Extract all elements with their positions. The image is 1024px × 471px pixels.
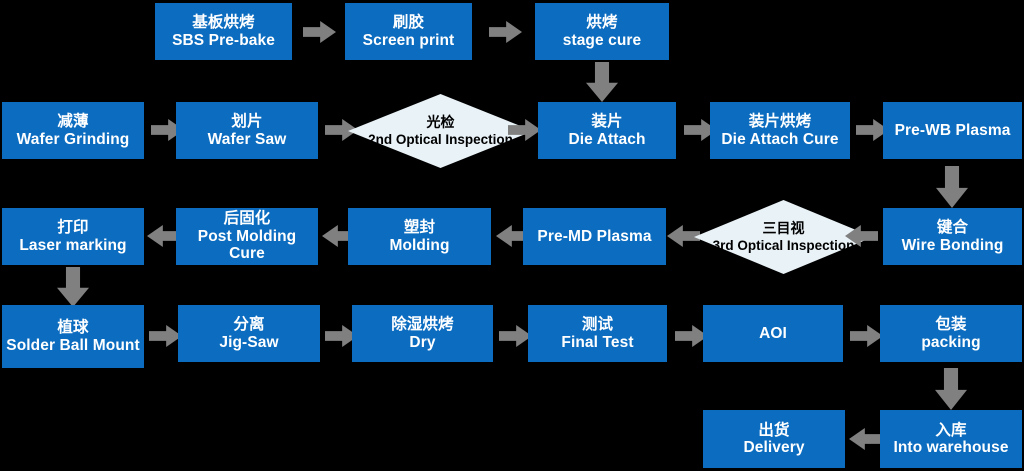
- node-label-en: Jig-Saw: [219, 334, 278, 351]
- node-label-en: Wire Bonding: [902, 237, 1004, 254]
- node-wafer-grinding[interactable]: 减薄 Wafer Grinding: [2, 102, 144, 159]
- node-label-en: stage cure: [563, 32, 642, 49]
- node-stage-cure[interactable]: 烘烤 stage cure: [535, 3, 669, 60]
- diamond-label: 三目视 3rd Optical Inspection: [713, 220, 855, 253]
- node-label-cn: 装片烘烤: [749, 113, 811, 130]
- node-label-cn: 打印: [57, 219, 88, 236]
- node-solder-ball-mount[interactable]: 植球 Solder Ball Mount: [2, 305, 144, 368]
- node-wafer-saw[interactable]: 划片 Wafer Saw: [176, 102, 318, 159]
- arrow-stage-cure-to-die-attach: [586, 62, 618, 102]
- node-3rd-optical-inspection[interactable]: 三目视 3rd Optical Inspection: [694, 200, 873, 274]
- arrow-laser-marking-to-solder-ball-mount: [57, 267, 89, 307]
- node-label-en: SBS Pre-bake: [172, 32, 275, 49]
- node-label-cn: 入库: [935, 422, 966, 439]
- node-label-cn: 键合: [937, 219, 968, 236]
- node-label-en: Delivery: [743, 439, 804, 456]
- node-label-en: Solder Ball Mount: [6, 337, 139, 354]
- node-label-cn: 后固化: [224, 210, 271, 227]
- arrow-packing-to-into-warehouse: [935, 368, 967, 410]
- node-die-attach[interactable]: 装片 Die Attach: [538, 102, 676, 159]
- node-label-cn: 分离: [233, 316, 264, 333]
- node-pre-md-plasma[interactable]: Pre-MD Plasma: [523, 208, 666, 265]
- node-label-cn: 烘烤: [586, 14, 617, 31]
- node-label-en: Laser marking: [19, 237, 126, 254]
- node-jig-saw[interactable]: 分离 Jig-Saw: [178, 305, 320, 362]
- node-label-en: Molding: [389, 237, 449, 254]
- node-label-en: Screen print: [363, 32, 455, 49]
- node-label-cn: 测试: [582, 316, 613, 333]
- arrow-aoi-to-packing: [850, 325, 883, 347]
- diamond-label: 光检 2nd Optical Inspection: [368, 114, 513, 147]
- node-dry[interactable]: 除湿烘烤 Dry: [352, 305, 493, 362]
- node-label-cn: 减薄: [57, 113, 88, 130]
- node-label-en: Die Attach: [568, 131, 645, 148]
- node-label-en: 2nd Optical Inspection: [368, 132, 513, 147]
- node-laser-marking[interactable]: 打印 Laser marking: [2, 208, 144, 265]
- node-die-attach-cure[interactable]: 装片烘烤 Die Attach Cure: [710, 102, 850, 159]
- node-label-cn: 包装: [935, 316, 966, 333]
- node-label-en: Wafer Grinding: [17, 131, 130, 148]
- node-label-en: packing: [921, 334, 980, 351]
- node-label-en: Post Molding Cure: [179, 228, 315, 263]
- node-screen-print[interactable]: 刷胶 Screen print: [345, 3, 472, 60]
- node-label-cn: 光检: [427, 114, 455, 130]
- node-label-cn: 刷胶: [393, 14, 424, 31]
- arrow-pre-wb-plasma-to-wire-bonding: [936, 166, 968, 208]
- node-wire-bonding[interactable]: 键合 Wire Bonding: [883, 208, 1022, 265]
- node-label-en: Die Attach Cure: [721, 131, 838, 148]
- node-pre-wb-plasma[interactable]: Pre-WB Plasma: [883, 102, 1022, 159]
- node-label-en: AOI: [759, 325, 787, 342]
- node-aoi[interactable]: AOI: [703, 305, 843, 362]
- node-molding[interactable]: 塑封 Molding: [348, 208, 491, 265]
- node-delivery[interactable]: 出货 Delivery: [703, 410, 845, 468]
- node-label-cn: 基板烘烤: [192, 14, 254, 31]
- node-sbs-pre-bake[interactable]: 基板烘烤 SBS Pre-bake: [155, 3, 292, 60]
- arrow-screen-print-to-stage-cure: [489, 21, 522, 43]
- node-label-cn: 划片: [231, 113, 262, 130]
- node-label-en: Into warehouse: [893, 439, 1008, 456]
- process-flow-diagram: 基板烘烤 SBS Pre-bake 刷胶 Screen print 烘烤 sta…: [0, 0, 1024, 471]
- node-label-en: Pre-WB Plasma: [895, 122, 1011, 139]
- node-label-cn: 植球: [57, 319, 88, 336]
- node-packing[interactable]: 包装 packing: [880, 305, 1022, 362]
- node-label-cn: 除湿烘烤: [391, 316, 453, 333]
- node-label-cn: 三目视: [763, 220, 805, 236]
- arrow-into-warehouse-to-delivery: [849, 428, 882, 450]
- node-2nd-optical-inspection[interactable]: 光检 2nd Optical Inspection: [348, 94, 533, 168]
- node-label-cn: 装片: [591, 113, 622, 130]
- node-label-en: Final Test: [561, 334, 633, 351]
- node-final-test[interactable]: 测试 Final Test: [528, 305, 667, 362]
- node-label-en: 3rd Optical Inspection: [713, 238, 855, 253]
- node-into-warehouse[interactable]: 入库 Into warehouse: [880, 410, 1022, 468]
- node-label-en: Pre-MD Plasma: [537, 228, 651, 245]
- node-post-molding-cure[interactable]: 后固化 Post Molding Cure: [176, 208, 318, 265]
- node-label-cn: 塑封: [404, 219, 435, 236]
- node-label-en: Dry: [409, 334, 435, 351]
- node-label-cn: 出货: [758, 422, 789, 439]
- arrow-sbs-pre-bake-to-screen-print: [303, 21, 336, 43]
- node-label-en: Wafer Saw: [208, 131, 287, 148]
